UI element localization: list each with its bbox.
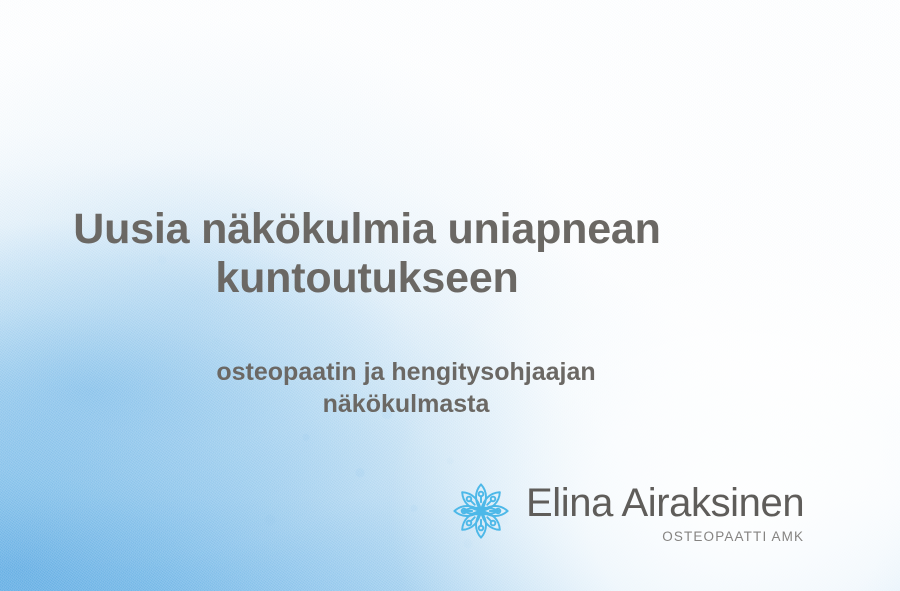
slide-title: Uusia näkökulmia uniapnean kuntoutukseen <box>42 205 692 303</box>
lotus-flower-icon <box>444 474 518 548</box>
slide-title-line-1: Uusia näkökulmia uniapnean <box>42 205 692 254</box>
brand-logo-lockup: Elina Airaksinen OSTEOPAATTI AMK <box>444 474 804 548</box>
brand-tagline: OSTEOPAATTI AMK <box>662 530 804 544</box>
brand-logo-text: Elina Airaksinen OSTEOPAATTI AMK <box>526 479 804 544</box>
slide-subtitle: osteopaatin ja hengitysohjaajan näkökulm… <box>156 357 656 420</box>
slide-title-line-2: kuntoutukseen <box>42 254 692 303</box>
brand-name: Elina Airaksinen <box>526 483 804 523</box>
presentation-title-slide: Uusia näkökulmia uniapnean kuntoutukseen… <box>0 0 900 591</box>
slide-subtitle-line-1: osteopaatin ja hengitysohjaajan <box>156 357 656 389</box>
slide-subtitle-line-2: näkökulmasta <box>156 389 656 421</box>
